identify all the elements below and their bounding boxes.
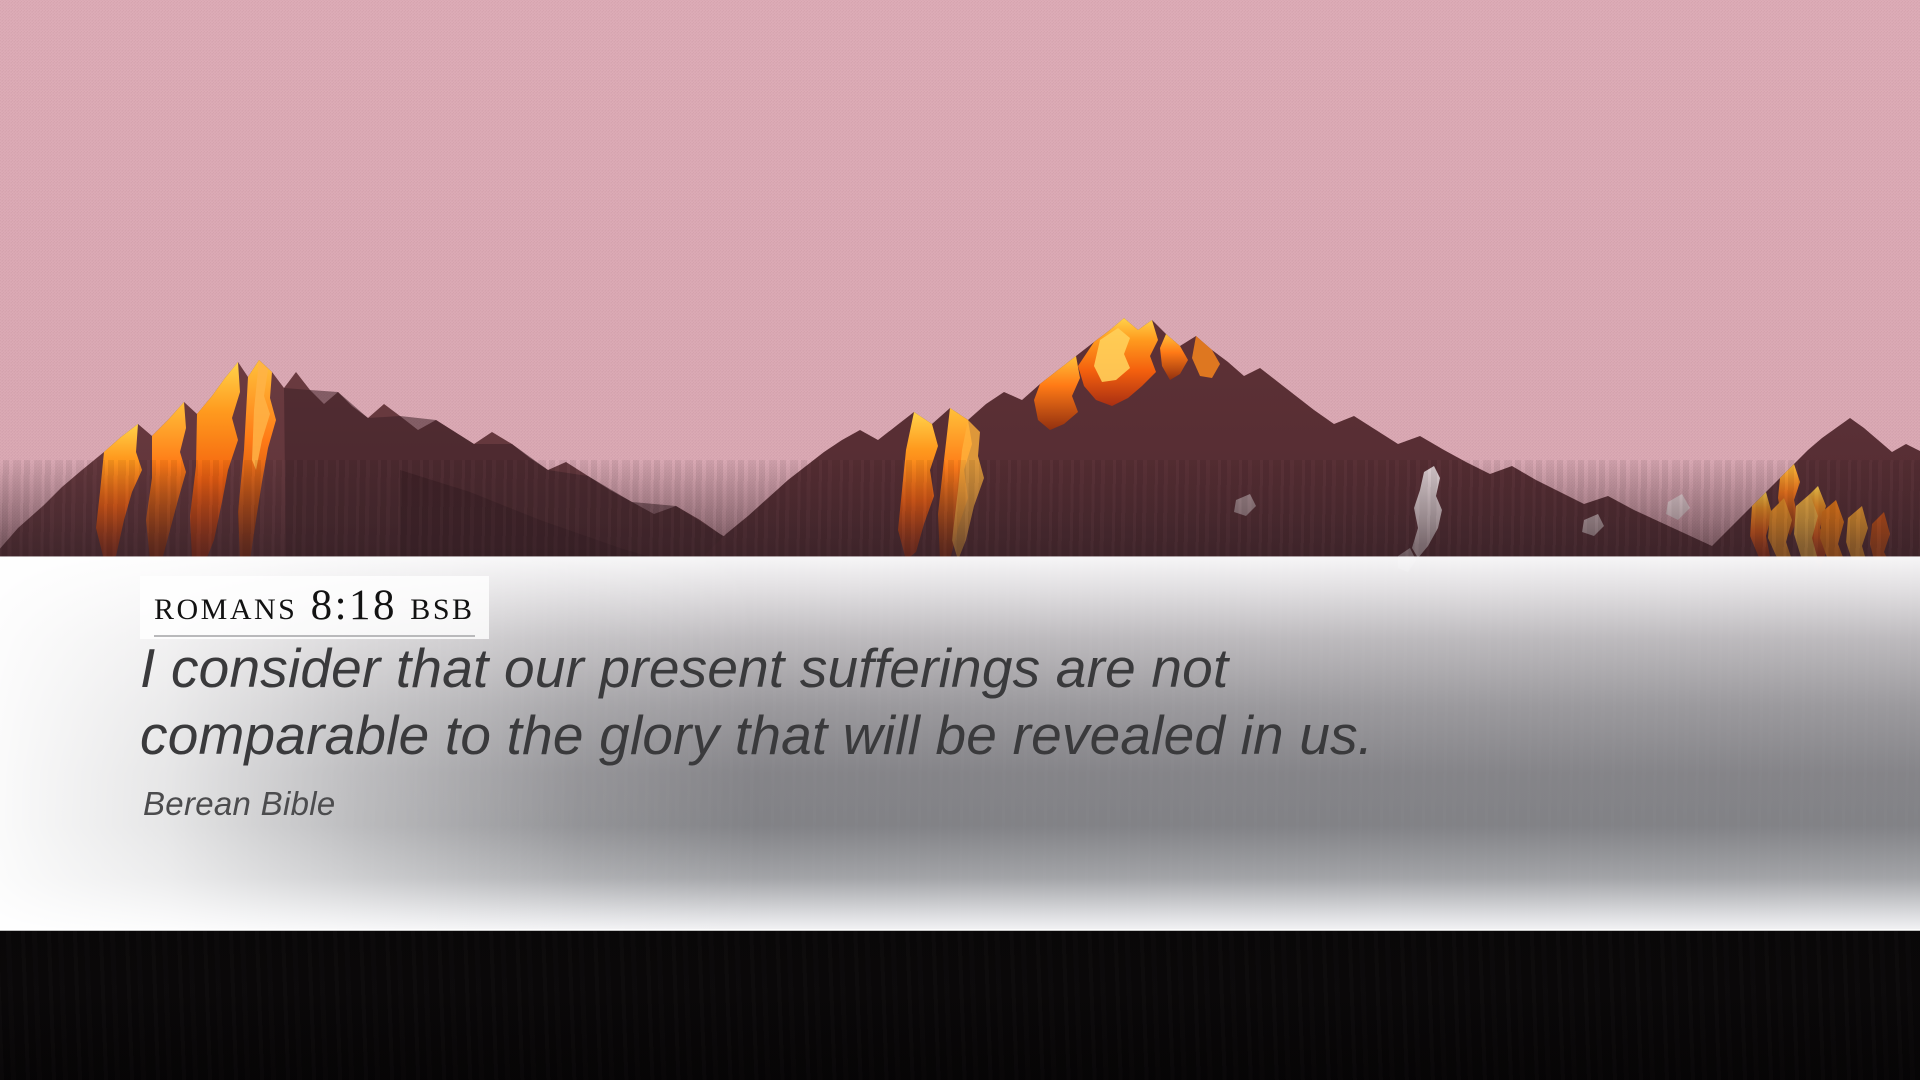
verse-wallpaper: Romans 8:18 BSB I consider that our pres… [0, 0, 1920, 1080]
quote-content: Romans 8:18 BSB I consider that our pres… [0, 557, 1920, 930]
bottom-bar-texture [0, 931, 1920, 1080]
bottom-dark-bar [0, 931, 1920, 1080]
verse-reference: Romans 8:18 BSB [154, 580, 475, 637]
verse-reference-box: Romans 8:18 BSB [140, 576, 489, 639]
verse-attribution: Berean Bible [143, 784, 336, 824]
verse-text: I consider that our present sufferings a… [140, 635, 1780, 769]
